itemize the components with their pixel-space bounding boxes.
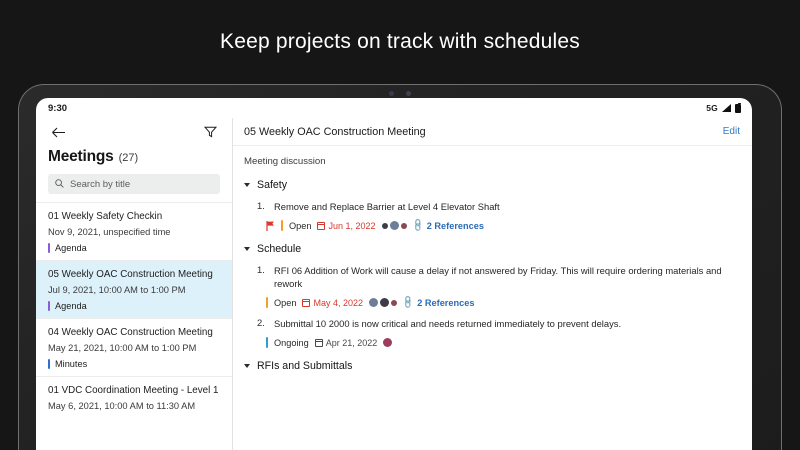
- references-label: 2 References: [427, 221, 484, 231]
- avatar: [382, 223, 388, 229]
- badge-label: Agenda: [55, 243, 87, 253]
- meeting-type-badge: Agenda: [48, 243, 222, 253]
- discussion-section: RFIs and Submittals: [244, 360, 741, 372]
- link-icon: 🔗: [401, 295, 415, 309]
- assignee-avatars[interactable]: [369, 298, 397, 307]
- meeting-date: Jul 9, 2021, 10:00 AM to 1:00 PM: [48, 284, 222, 296]
- status-color-bar: [266, 337, 268, 348]
- meeting-list-item[interactable]: 01 Weekly Safety CheckinNov 9, 2021, uns…: [36, 202, 232, 260]
- meeting-type-badge: Minutes: [48, 359, 222, 369]
- calendar-icon: [302, 299, 310, 307]
- edit-button[interactable]: Edit: [723, 126, 740, 137]
- search-input[interactable]: Search by title: [48, 174, 220, 194]
- badge-label: Agenda: [55, 301, 87, 311]
- badge-color-bar: [48, 359, 50, 369]
- meeting-name: 01 VDC Coordination Meeting - Level 1: [48, 384, 222, 397]
- calendar-icon: [317, 222, 325, 230]
- due-date: Apr 21, 2022: [315, 338, 378, 348]
- avatar: [369, 298, 378, 307]
- meeting-type-badge: Agenda: [48, 301, 222, 311]
- avatar: [401, 223, 407, 229]
- avatar: [383, 338, 392, 347]
- status-label: Ongoing: [274, 338, 309, 348]
- section-title: Schedule: [257, 243, 301, 255]
- due-date-label: Jun 1, 2022: [328, 221, 375, 231]
- avatar: [380, 298, 389, 307]
- discussion-item: 1.RFI 06 Addition of Work will cause a d…: [244, 264, 741, 290]
- page-title: Meetings: [48, 148, 114, 166]
- link-icon: 🔗: [411, 218, 425, 232]
- sidebar-title-row: Meetings (27): [36, 144, 232, 166]
- status-label: Open: [289, 221, 311, 231]
- meeting-name: 01 Weekly Safety Checkin: [48, 210, 222, 223]
- discussion-section: Safety1.Remove and Replace Barrier at Le…: [244, 179, 741, 231]
- front-camera-dots: [389, 91, 411, 96]
- assignee-avatars[interactable]: [382, 221, 407, 230]
- section-header[interactable]: Safety: [244, 179, 741, 191]
- item-number: 2.: [257, 317, 266, 330]
- search-icon: [55, 175, 64, 193]
- promo-headline: Keep projects on track with schedules: [0, 0, 800, 84]
- calendar-icon: [315, 339, 323, 347]
- references-link[interactable]: 🔗2 References: [403, 298, 474, 308]
- meetings-list[interactable]: 01 Weekly Safety CheckinNov 9, 2021, uns…: [36, 202, 232, 450]
- status-time: 9:30: [48, 103, 67, 114]
- item-text: Submittal 10 2000 is now critical and ne…: [274, 317, 621, 330]
- meeting-list-item[interactable]: 05 Weekly OAC Construction MeetingJul 9,…: [36, 260, 232, 318]
- sidebar-toolbar: [36, 118, 232, 144]
- section-title: RFIs and Submittals: [257, 360, 352, 372]
- status-label: Open: [274, 298, 296, 308]
- item-text: RFI 06 Addition of Work will cause a del…: [274, 264, 741, 290]
- status-color-bar: [281, 220, 283, 231]
- meeting-date: May 6, 2021, 10:00 AM to 11:30 AM: [48, 400, 222, 412]
- sections-container: Safety1.Remove and Replace Barrier at Le…: [244, 179, 741, 372]
- due-date: May 4, 2022: [302, 298, 363, 308]
- chevron-down-icon[interactable]: [244, 183, 250, 187]
- due-date-label: Apr 21, 2022: [326, 338, 378, 348]
- item-meta-row: OngoingApr 21, 2022: [266, 337, 741, 348]
- meeting-discussion-label: Meeting discussion: [244, 156, 741, 167]
- badge-label: Minutes: [55, 359, 87, 369]
- item-number: 1.: [257, 200, 266, 213]
- item-meta-row: OpenJun 1, 2022🔗2 References: [266, 220, 741, 231]
- filter-icon[interactable]: [200, 122, 220, 142]
- meeting-list-item[interactable]: 04 Weekly OAC Construction MeetingMay 21…: [36, 318, 232, 376]
- due-date-label: May 4, 2022: [313, 298, 363, 308]
- detail-body: Meeting discussion Safety1.Remove and Re…: [233, 146, 752, 450]
- chevron-down-icon[interactable]: [244, 364, 250, 368]
- meetings-sidebar: Meetings (27) Search by title 01 Weekly …: [36, 118, 233, 450]
- meeting-detail-panel: 05 Weekly OAC Construction Meeting Edit …: [233, 118, 752, 450]
- meetings-count: (27): [119, 152, 139, 164]
- item-text: Remove and Replace Barrier at Level 4 El…: [274, 200, 500, 213]
- badge-color-bar: [48, 243, 50, 253]
- camera-dot: [389, 91, 394, 96]
- references-label: 2 References: [417, 298, 474, 308]
- screenshot-stage: Keep projects on track with schedules 9:…: [0, 0, 800, 450]
- meeting-date: Nov 9, 2021, unspecified time: [48, 226, 222, 238]
- chevron-down-icon[interactable]: [244, 247, 250, 251]
- search-placeholder: Search by title: [70, 179, 130, 190]
- detail-header: 05 Weekly OAC Construction Meeting Edit: [233, 118, 752, 146]
- discussion-section: Schedule1.RFI 06 Addition of Work will c…: [244, 243, 741, 348]
- meeting-list-item[interactable]: 01 VDC Coordination Meeting - Level 1May…: [36, 376, 232, 419]
- section-title: Safety: [257, 179, 287, 191]
- section-header[interactable]: RFIs and Submittals: [244, 360, 741, 372]
- section-header[interactable]: Schedule: [244, 243, 741, 255]
- due-date: Jun 1, 2022: [317, 221, 375, 231]
- tablet-screen: 9:30 5G: [36, 98, 752, 450]
- flag-icon[interactable]: [266, 221, 275, 231]
- meeting-name: 05 Weekly OAC Construction Meeting: [48, 268, 222, 281]
- app-body: Meetings (27) Search by title 01 Weekly …: [36, 118, 752, 450]
- discussion-item: 1.Remove and Replace Barrier at Level 4 …: [244, 200, 741, 213]
- references-link[interactable]: 🔗2 References: [413, 221, 484, 231]
- avatar: [391, 300, 397, 306]
- avatar: [390, 221, 399, 230]
- assignee-avatars[interactable]: [383, 338, 392, 347]
- status-bar: 9:30 5G: [36, 98, 752, 118]
- network-label: 5G: [706, 103, 718, 113]
- badge-color-bar: [48, 301, 50, 311]
- sensor-dot: [406, 91, 411, 96]
- discussion-item: 2.Submittal 10 2000 is now critical and …: [244, 317, 741, 330]
- status-indicators: 5G: [706, 103, 741, 113]
- meeting-title: 05 Weekly OAC Construction Meeting: [244, 126, 426, 138]
- battery-icon: [735, 104, 741, 113]
- back-arrow-icon[interactable]: [48, 122, 68, 142]
- meeting-name: 04 Weekly OAC Construction Meeting: [48, 326, 222, 339]
- item-number: 1.: [257, 264, 266, 290]
- status-color-bar: [266, 297, 268, 308]
- meeting-date: May 21, 2021, 10:00 AM to 1:00 PM: [48, 342, 222, 354]
- item-meta-row: OpenMay 4, 2022🔗2 References: [266, 297, 741, 308]
- signal-icon: [722, 104, 731, 112]
